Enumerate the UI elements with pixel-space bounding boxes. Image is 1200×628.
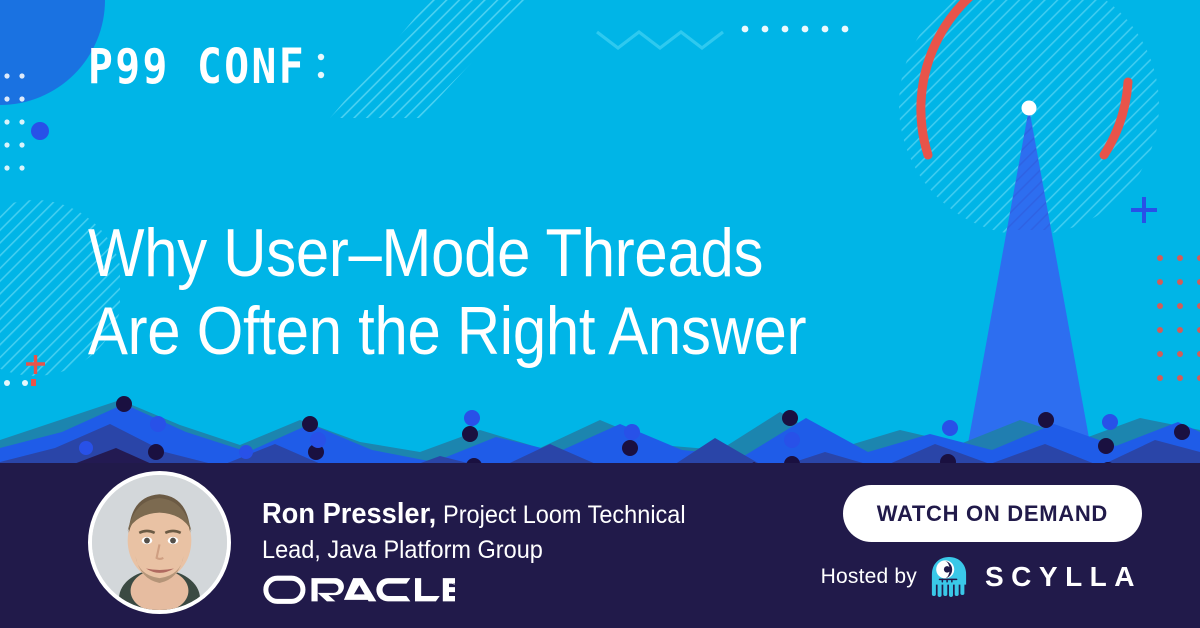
red-plus-icon [26,355,45,374]
red-dot-grid [1157,255,1200,381]
avatar [88,471,231,614]
oracle-logo: ® [262,572,822,606]
speaker-role-part2: Lead, Java Platform Group [262,536,543,564]
speaker-info: Ron Pressler, Project Loom Technical Lea… [262,496,822,606]
speaker-headshot-illustration [92,475,227,610]
oracle-registered-mark: ® [451,576,455,586]
diagonal-stripe-block [300,0,580,160]
blue-accent-dot [31,122,49,140]
peak-summit-dot [1022,101,1037,116]
watch-on-demand-button[interactable]: WATCH ON DEMAND [843,485,1142,542]
p99conf-logo[interactable]: P99 CONF [88,44,315,87]
session-promo-card: P99 CONF Why User–Mode Threads Are Often… [0,0,1200,628]
speaker-role-part1: Project Loom Technical [443,501,686,529]
speaker-line-2: Lead, Java Platform Group [262,533,788,567]
speaker-name: Ron Pressler, [262,498,436,530]
white-dot-row [742,26,849,33]
zigzag-line [597,32,723,48]
tall-blue-peak [965,108,1093,460]
red-tick-mark [31,379,36,386]
oracle-wordmark: ® [262,572,455,606]
white-dot-pair-mid [318,54,324,78]
white-dot-grid [4,73,24,170]
scylla-monster-icon [930,556,968,598]
scylla-wordmark: SCYLLA [981,561,1142,593]
hosted-by-label: Hosted by [821,565,917,589]
hatched-circle-right [899,0,1159,235]
white-dot-pair-left [4,380,28,386]
blue-plus-icon [1131,197,1157,223]
red-arc-ring [921,0,1128,155]
speaker-line-1: Ron Pressler, Project Loom Technical [262,496,788,533]
hosted-by-block: Hosted by SCYLLA [821,556,1142,598]
page-title: Why User–Mode Threads Are Often the Righ… [88,214,862,372]
p99conf-logo-text: P99 CONF [88,44,306,92]
